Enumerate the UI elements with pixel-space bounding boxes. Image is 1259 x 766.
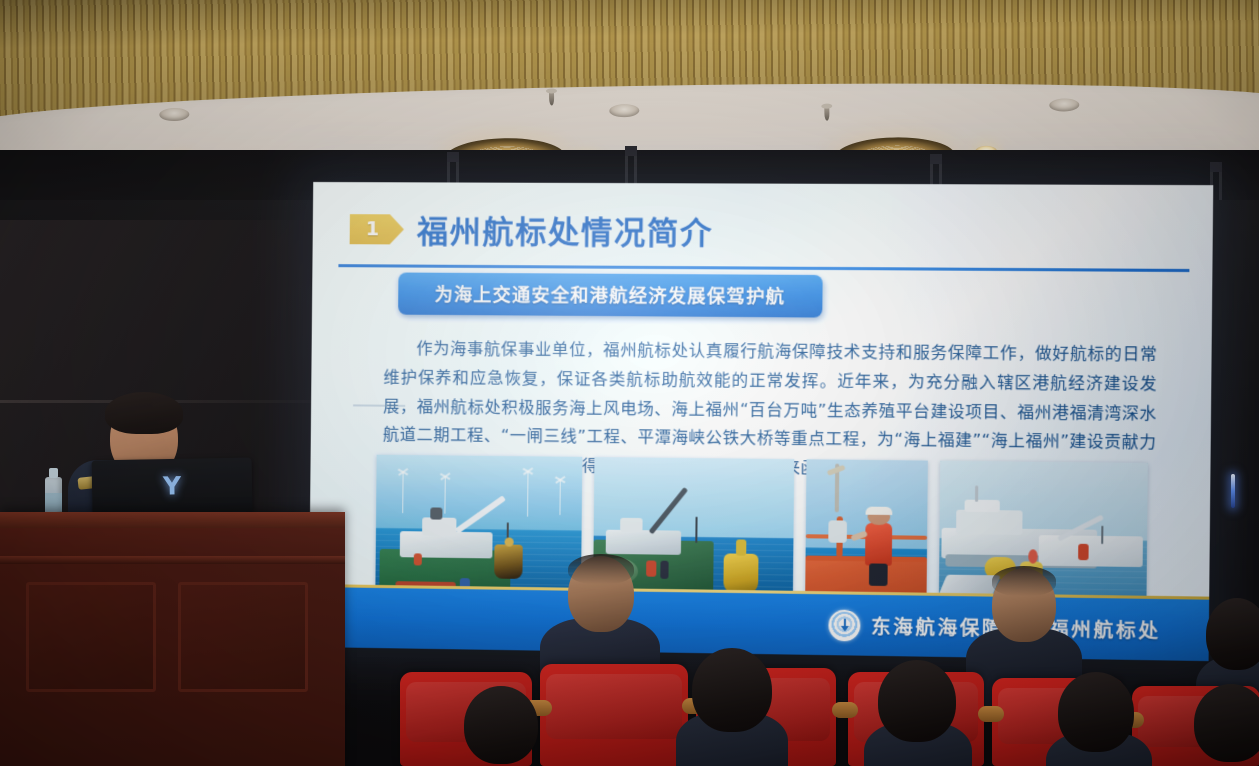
- ceiling-vent-cap-icon: [609, 104, 639, 118]
- presenter-hair: [105, 392, 183, 434]
- section-number-label: 1: [366, 220, 379, 239]
- audience-person: [864, 660, 972, 766]
- maritime-anchor-emblem-icon: [829, 609, 861, 641]
- ceiling-vent-cap-icon: [159, 108, 189, 122]
- podium-panel: [26, 582, 156, 692]
- section-number-badge: 1: [350, 214, 404, 244]
- sprinkler-head-icon: [824, 107, 829, 121]
- bottle-label: [45, 493, 62, 511]
- blue-led-wall-indicator-icon: [1231, 474, 1235, 508]
- subtitle-banner-label: 为海上交通安全和港航经济发展保驾护航: [435, 281, 786, 309]
- audience-person: [676, 648, 788, 766]
- audience-person: [1186, 684, 1259, 766]
- wooden-podium: [0, 512, 345, 766]
- podium-panel: [178, 582, 308, 692]
- subtitle-banner: 为海上交通安全和港航经济发展保驾护航: [398, 273, 823, 318]
- slide-header: 1 福州航标处情况简介: [312, 204, 1213, 265]
- seat-armrest: [832, 702, 858, 718]
- slide-title: 福州航标处情况简介: [417, 206, 714, 253]
- photo-worker-servicing-navigation-light: [805, 459, 928, 603]
- seat-armrest: [978, 706, 1004, 722]
- presenter-laptop[interactable]: Y: [92, 458, 253, 515]
- audience-person: [456, 686, 560, 766]
- audience-person: [1046, 672, 1152, 766]
- auditorium-seat: [540, 664, 688, 766]
- podium-top-edge: [0, 512, 345, 528]
- title-underline-rule: [338, 264, 1189, 272]
- sprinkler-head-icon: [549, 91, 554, 105]
- laptop-brand-logo-icon: Y: [163, 473, 182, 498]
- podium-rail: [0, 556, 345, 564]
- screen-seam-artifact: [353, 404, 405, 406]
- conference-room-scene: 1 福州航标处情况简介 为海上交通安全和港航经济发展保驾护航 作为海事航保事业单…: [0, 0, 1259, 766]
- ceiling-vent-cap-icon: [1049, 98, 1079, 112]
